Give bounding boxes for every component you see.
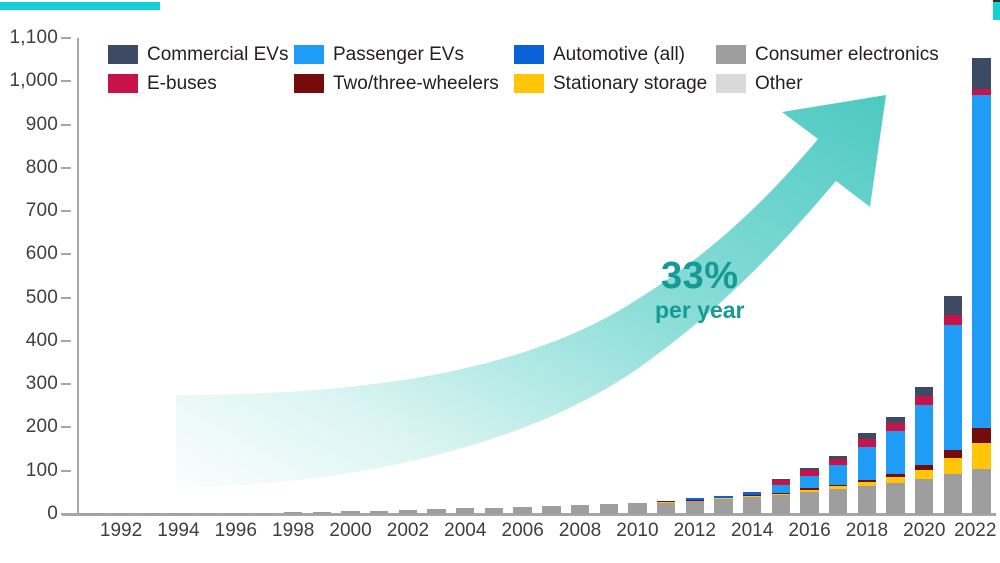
- x-axis-label-2002: 2002: [387, 520, 429, 542]
- x-axis-label-2004: 2004: [444, 520, 486, 542]
- bar-segment-consumer-electronics: [485, 508, 503, 514]
- bar-2004[interactable]: [456, 508, 474, 514]
- legend-swatch-two_three_wheelers: [294, 74, 324, 93]
- bar-segment-two-three-wheelers: [972, 428, 990, 442]
- legend-label-automotive_all: Automotive (all): [553, 44, 685, 66]
- bar-2011[interactable]: [657, 501, 675, 514]
- bar-segment-consumer-electronics: [858, 486, 876, 514]
- bar-segment-consumer-electronics: [743, 497, 761, 514]
- x-axis-label-2020: 2020: [903, 520, 945, 542]
- bar-segment-passenger-evs: [915, 405, 933, 466]
- bar-2000[interactable]: [341, 511, 359, 514]
- legend-label-two_three_wheelers: Two/three-wheelers: [333, 73, 499, 95]
- y-axis-tick-mark: [61, 210, 71, 212]
- legend-item-consumer_electronics[interactable]: Consumer electronics: [716, 44, 946, 66]
- legend-item-stationary_storage[interactable]: Stationary storage: [514, 73, 716, 95]
- bar-segment-consumer-electronics: [915, 479, 933, 514]
- x-axis-label-2018: 2018: [846, 520, 888, 542]
- bar-segment-consumer-electronics: [657, 503, 675, 514]
- bar-2015[interactable]: [772, 479, 790, 514]
- legend-label-e_buses: E-buses: [147, 73, 217, 95]
- chart-legend: Commercial EVsPassenger EVsAutomotive (a…: [108, 40, 946, 98]
- legend-item-e_buses[interactable]: E-buses: [108, 73, 294, 95]
- x-axis-label-2006: 2006: [502, 520, 544, 542]
- y-axis-tick-label: 400: [26, 330, 58, 352]
- legend-label-commercial_evs: Commercial EVs: [147, 44, 288, 66]
- legend-label-consumer_electronics: Consumer electronics: [755, 44, 939, 66]
- bar-segment-consumer-electronics: [341, 511, 359, 514]
- legend-label-stationary_storage: Stationary storage: [553, 73, 707, 95]
- bar-segment-e-buses: [944, 315, 962, 325]
- legend-swatch-e_buses: [108, 74, 138, 93]
- bar-segment-consumer-electronics: [800, 492, 818, 515]
- x-axis-label-2010: 2010: [616, 520, 658, 542]
- legend-label-other: Other: [755, 73, 803, 95]
- bar-segment-stationary-storage: [915, 470, 933, 479]
- legend-swatch-automotive_all: [514, 45, 544, 64]
- bar-2019[interactable]: [886, 417, 904, 514]
- legend-swatch-other: [716, 74, 746, 93]
- bar-segment-passenger-evs: [772, 485, 790, 493]
- bar-segment-commercial-evs: [944, 296, 962, 315]
- legend-swatch-passenger_evs: [294, 45, 324, 64]
- y-axis-tick-label: 600: [26, 243, 58, 265]
- bar-2003[interactable]: [427, 509, 445, 514]
- bar-segment-consumer-electronics: [370, 511, 388, 514]
- bar-2014[interactable]: [743, 493, 761, 515]
- bar-segment-e-buses: [858, 439, 876, 447]
- y-axis-tick-mark: [61, 426, 71, 428]
- y-axis-tick-label: 0: [47, 503, 58, 525]
- x-axis-label-2000: 2000: [329, 520, 371, 542]
- bar-segment-stationary-storage: [972, 443, 990, 470]
- y-axis-tick-mark: [61, 297, 71, 299]
- bar-2017[interactable]: [829, 456, 847, 514]
- bar-1991[interactable]: [83, 513, 101, 514]
- bar-segment-commercial-evs: [972, 58, 990, 88]
- bar-1997[interactable]: [255, 513, 273, 514]
- bar-segment-consumer-electronics: [628, 503, 646, 514]
- bar-2021[interactable]: [944, 295, 962, 514]
- legend-swatch-stationary_storage: [514, 74, 544, 93]
- bar-segment-two-three-wheelers: [944, 450, 962, 458]
- y-axis-tick-label: 300: [26, 373, 58, 395]
- bar-segment-consumer-electronics: [141, 513, 159, 514]
- bar-segment-e-buses: [886, 423, 904, 431]
- x-axis-label-2008: 2008: [559, 520, 601, 542]
- x-axis-label-1996: 1996: [215, 520, 257, 542]
- bar-2012[interactable]: [686, 498, 704, 514]
- y-axis-tick-mark: [61, 37, 71, 39]
- bar-segment-consumer-electronics: [686, 501, 704, 514]
- bar-2006[interactable]: [513, 507, 531, 514]
- legend-item-two_three_wheelers[interactable]: Two/three-wheelers: [294, 73, 514, 95]
- bar-segment-consumer-electronics: [571, 505, 589, 514]
- x-axis-label-1994: 1994: [157, 520, 199, 542]
- y-axis-tick-label: 500: [26, 287, 58, 309]
- y-axis-tick-label: 1,000: [9, 70, 58, 92]
- bar-2002[interactable]: [399, 510, 417, 514]
- bar-segment-consumer-electronics: [284, 512, 302, 514]
- bar-2010[interactable]: [628, 503, 646, 514]
- y-axis-tick-label: 700: [26, 200, 58, 222]
- stacked-bar-chart: 1,1001,0009008007006005004003002001000 3…: [0, 0, 1000, 563]
- x-axis-label-2022: 2022 *: [954, 520, 1000, 542]
- y-axis-tick-mark: [61, 80, 71, 82]
- bar-segment-consumer-electronics: [227, 513, 245, 514]
- legend-item-commercial_evs[interactable]: Commercial EVs: [108, 44, 294, 66]
- legend-swatch-commercial_evs: [108, 45, 138, 64]
- x-axis-label-2014: 2014: [731, 520, 773, 542]
- bar-segment-consumer-electronics: [944, 474, 962, 514]
- bar-segment-passenger-evs: [944, 325, 962, 450]
- y-axis-tick-label: 100: [26, 460, 58, 482]
- bar-2008[interactable]: [571, 505, 589, 514]
- bar-segment-consumer-electronics: [542, 506, 560, 514]
- bar-1996[interactable]: [227, 513, 245, 514]
- y-axis-tick-label: 800: [26, 157, 58, 179]
- bar-segment-consumer-electronics: [829, 489, 847, 514]
- y-axis-tick-label: 900: [26, 114, 58, 136]
- bar-1993[interactable]: [141, 513, 159, 514]
- bar-2001[interactable]: [370, 511, 388, 514]
- x-axis-label-asterisk: *: [996, 520, 1000, 541]
- bar-segment-consumer-electronics: [972, 469, 990, 514]
- bar-segment-consumer-electronics: [513, 507, 531, 514]
- y-axis-tick-mark: [61, 470, 71, 472]
- bar-segment-consumer-electronics: [714, 499, 732, 514]
- bar-segment-consumer-electronics: [169, 513, 187, 514]
- bar-2018[interactable]: [858, 433, 876, 514]
- bar-segment-consumer-electronics: [772, 495, 790, 514]
- x-axis-label-2016: 2016: [788, 520, 830, 542]
- bar-segment-e-buses: [915, 396, 933, 405]
- bar-segment-consumer-electronics: [600, 504, 618, 514]
- y-axis-tick-label: 200: [26, 416, 58, 438]
- y-axis-tick-mark: [61, 167, 71, 169]
- bar-segment-consumer-electronics: [83, 513, 101, 514]
- bar-segment-passenger-evs: [886, 431, 904, 474]
- x-axis-label-2012: 2012: [674, 520, 716, 542]
- plot-area: [78, 38, 996, 514]
- y-axis-tick-mark: [61, 383, 71, 385]
- legend-label-passenger_evs: Passenger EVs: [333, 44, 464, 66]
- bar-segment-stationary-storage: [944, 458, 962, 474]
- bar-1999[interactable]: [313, 512, 331, 514]
- legend-swatch-consumer_electronics: [716, 45, 746, 64]
- y-axis-tick-mark: [61, 340, 71, 342]
- bar-1995[interactable]: [198, 513, 216, 514]
- bar-1992[interactable]: [112, 513, 130, 514]
- bar-segment-consumer-electronics: [198, 513, 216, 514]
- bar-segment-passenger-evs: [858, 447, 876, 480]
- bar-2013[interactable]: [714, 496, 732, 514]
- bar-segment-passenger-evs: [972, 95, 990, 428]
- legend-item-automotive_all[interactable]: Automotive (all): [514, 44, 716, 66]
- bar-2009[interactable]: [600, 504, 618, 514]
- bar-segment-consumer-electronics: [886, 483, 904, 514]
- bar-2022[interactable]: [972, 58, 990, 514]
- y-axis-tick-label: 1,100: [9, 27, 58, 49]
- bar-segment-consumer-electronics: [456, 508, 474, 514]
- bar-segment-passenger-evs: [800, 476, 818, 489]
- bar-segment-passenger-evs: [829, 465, 847, 485]
- y-axis-tick-mark: [61, 513, 71, 515]
- x-axis-label-1998: 1998: [272, 520, 314, 542]
- bar-segment-consumer-electronics: [427, 509, 445, 514]
- bar-2005[interactable]: [485, 508, 503, 514]
- bar-segment-consumer-electronics: [255, 513, 273, 514]
- legend-item-passenger_evs[interactable]: Passenger EVs: [294, 44, 514, 66]
- bar-2007[interactable]: [542, 506, 560, 514]
- y-axis-tick-mark: [61, 124, 71, 126]
- bar-segment-commercial-evs: [915, 387, 933, 396]
- bar-segment-consumer-electronics: [313, 512, 331, 514]
- bar-1994[interactable]: [169, 513, 187, 514]
- bar-segment-consumer-electronics: [112, 513, 130, 514]
- bar-segment-consumer-electronics: [399, 510, 417, 514]
- bar-2016[interactable]: [800, 468, 818, 514]
- legend-item-other[interactable]: Other: [716, 73, 946, 95]
- bar-1998[interactable]: [284, 512, 302, 514]
- y-axis-tick-mark: [61, 253, 71, 255]
- bar-2020[interactable]: [915, 387, 933, 514]
- x-axis-label-1992: 1992: [100, 520, 142, 542]
